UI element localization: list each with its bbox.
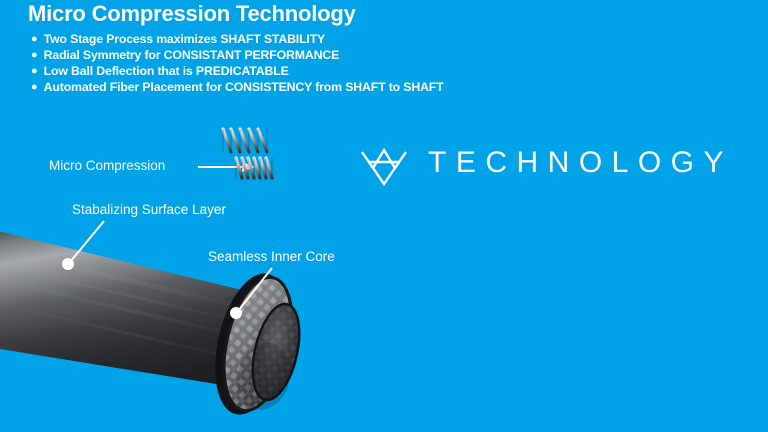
bullet-dot-icon: ●: [31, 47, 38, 63]
technology-logo-lockup: TECHNOLOGY: [358, 140, 733, 186]
bullet-dot-icon: ●: [31, 79, 38, 95]
feature-bullet-list: ● Two Stage Process maximizes SHAFT STAB…: [31, 31, 444, 95]
list-item-label: Two Stage Process maximizes SHAFT STABIL…: [44, 31, 325, 47]
technology-wordmark: TECHNOLOGY: [428, 148, 733, 178]
list-item: ● Two Stage Process maximizes SHAFT STAB…: [31, 31, 444, 47]
micro-compression-label: Micro Compression: [49, 158, 165, 173]
list-item: ● Automated Fiber Placement for CONSISTE…: [31, 79, 444, 95]
spring-compressed-icon: [232, 155, 278, 181]
page-title: Micro Compression Technology: [28, 1, 356, 27]
spring-relaxed-icon: [219, 126, 275, 154]
list-item: ● Low Ball Deflection that is PREDICATAB…: [31, 63, 444, 79]
list-item-label: Automated Fiber Placement for CONSISTENC…: [44, 79, 444, 95]
callout-label-surface-layer: Stabalizing Surface Layer: [72, 202, 226, 217]
list-item-label: Radial Symmetry for CONSISTANT PERFORMAN…: [44, 47, 339, 63]
list-item-label: Low Ball Deflection that is PREDICATABLE: [44, 63, 289, 79]
chevron-triangle-logo-icon: [358, 140, 410, 186]
bullet-dot-icon: ●: [31, 63, 38, 79]
slide-canvas: Micro Compression Technology ● Two Stage…: [0, 0, 768, 432]
list-item: ● Radial Symmetry for CONSISTANT PERFORM…: [31, 47, 444, 63]
bullet-dot-icon: ●: [31, 31, 38, 47]
callout-label-inner-core: Seamless Inner Core: [208, 249, 335, 264]
